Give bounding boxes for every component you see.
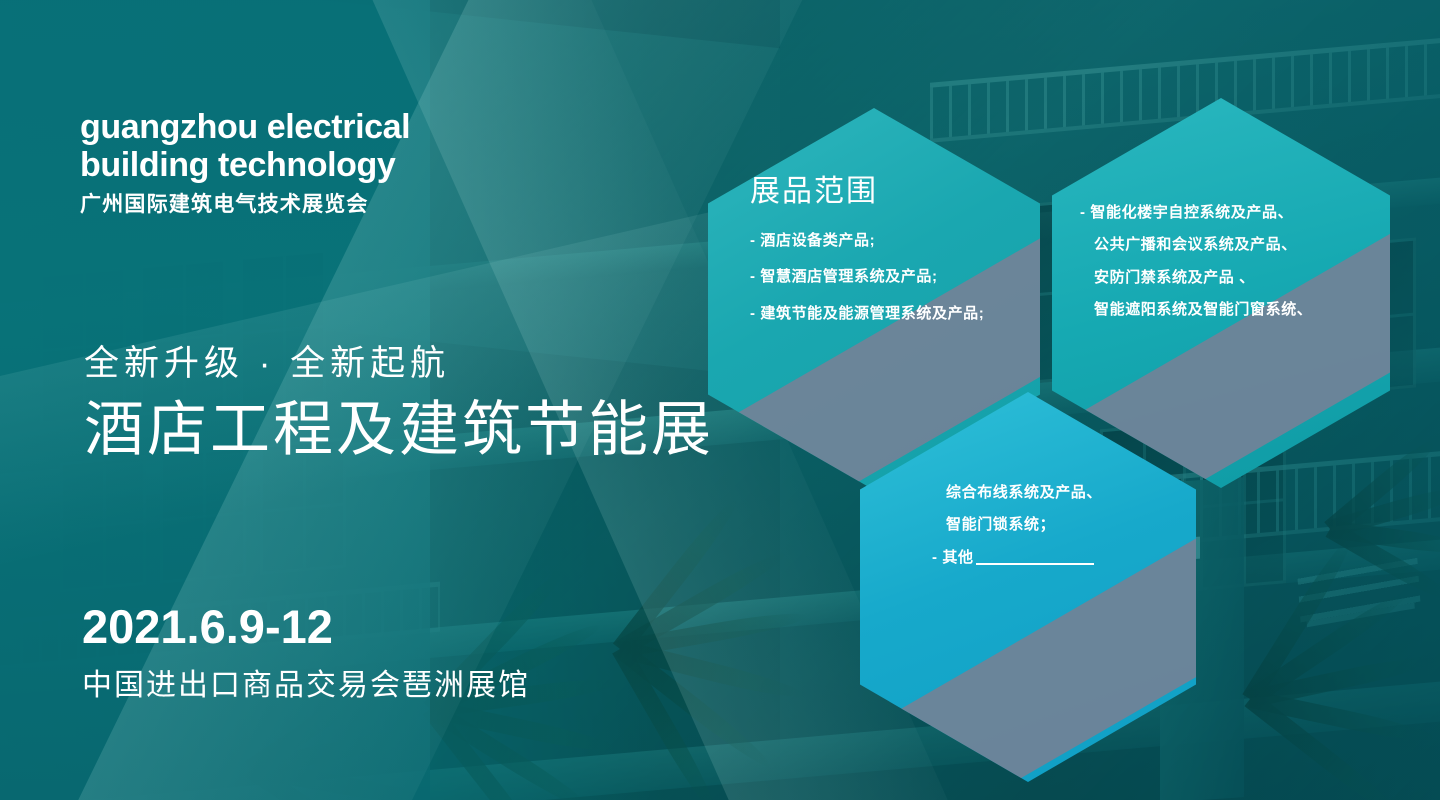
headline-block: 全新升级 · 全新起航 酒店工程及建筑节能展: [84, 342, 714, 466]
event-venue: 中国进出口商品交易会琶洲展馆: [82, 660, 530, 704]
brand-lockup: guangzhou electrical building technology…: [80, 108, 600, 218]
other-label: - 其他: [932, 549, 974, 566]
hexagon-list-item: - 建筑节能及能源管理系统及产品;: [750, 305, 1022, 322]
event-date: 2021.6.9-12: [82, 600, 530, 654]
promo-banner: guangzhou electrical building technology…: [0, 0, 1440, 800]
headline-subtitle: 全新升级 · 全新起航: [84, 342, 714, 386]
hexagon-list-item: 智能门锁系统；: [932, 516, 1180, 533]
brand-line-2: building technology: [80, 146, 600, 184]
hexagon-list-item: 智能遮阳系统及智能门窗系统、: [1080, 301, 1378, 318]
brand-line-1: guangzhou electrical: [80, 108, 600, 146]
hexagon-list-item: 安防门禁系统及产品 、: [1080, 269, 1378, 286]
hexagon-list-item: - 智能化楼宇自控系统及产品、: [1080, 204, 1378, 221]
fill-in-blank: [976, 563, 1094, 565]
hexagon-list-item-other: - 其他: [932, 549, 1180, 566]
hexagon-list-item: 综合布线系统及产品、: [932, 484, 1180, 501]
event-details: 2021.6.9-12 中国进出口商品交易会琶洲展馆: [82, 600, 530, 704]
headline-title: 酒店工程及建筑节能展: [84, 394, 714, 466]
hexagon-list-item: 公共广播和会议系统及产品、: [1080, 236, 1378, 253]
brand-chinese-name: 广州国际建筑电气技术展览会: [80, 188, 600, 218]
hexagon-title: 展品范围: [750, 166, 1022, 210]
hexagon-list-item: - 智慧酒店管理系统及产品;: [750, 268, 1022, 285]
hexagon-list-item: - 酒店设备类产品;: [750, 232, 1022, 249]
